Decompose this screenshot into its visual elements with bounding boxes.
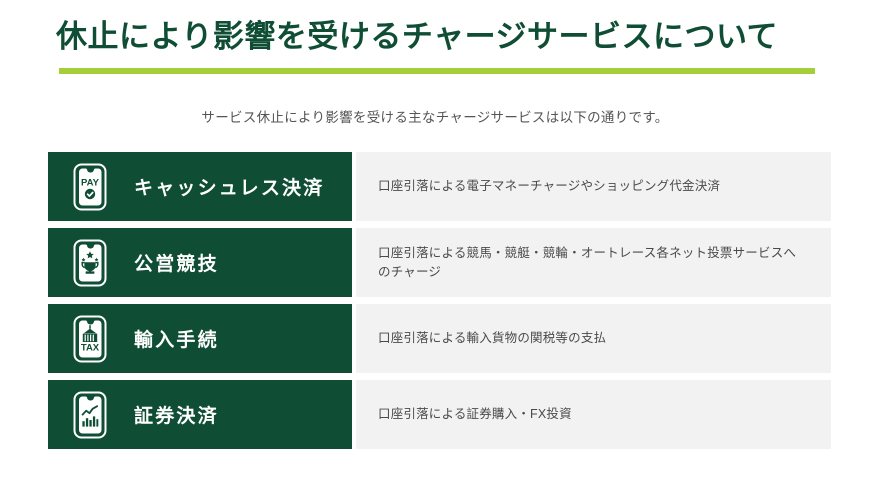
service-title: キャッシュレス決済 bbox=[134, 173, 324, 200]
svg-text:PAY: PAY bbox=[81, 177, 100, 188]
service-label-public-racing: 公営競技 bbox=[48, 228, 352, 297]
service-description: 口座引落による証券購入・FX投資 bbox=[378, 405, 572, 424]
list-item: PAY キャッシュレス決済 口座引落による電子マネーチャージやショッピング代金決… bbox=[48, 152, 831, 221]
phone-pay-icon: PAY bbox=[70, 162, 110, 212]
service-description-panel: 口座引落による電子マネーチャージやショッピング代金決済 bbox=[356, 152, 831, 221]
subtitle-text: サービス休止により影響を受ける主なチャージサービスは以下の通りです。 bbox=[0, 106, 870, 126]
title-underline bbox=[59, 68, 815, 74]
service-description-panel: 口座引落による競馬・競艇・競輪・オートレース各ネット投票サービスへのチャージ bbox=[356, 228, 831, 297]
service-title: 公営競技 bbox=[134, 249, 219, 276]
service-label-securities: 証券決済 bbox=[48, 380, 352, 449]
page-title: 休止により影響を受けるチャージサービスについて bbox=[56, 16, 818, 58]
service-label-cashless: PAY キャッシュレス決済 bbox=[48, 152, 352, 221]
list-item: TAX 輸入手続 口座引落による輸入貨物の関税等の支払 bbox=[48, 304, 831, 373]
list-item: 公営競技 口座引落による競馬・競艇・競輪・オートレース各ネット投票サービスへのチ… bbox=[48, 228, 831, 297]
service-description: 口座引落による輸入貨物の関税等の支払 bbox=[378, 329, 606, 348]
service-description: 口座引落による競馬・競艇・競輪・オートレース各ネット投票サービスへのチャージ bbox=[378, 244, 798, 282]
svg-text:TAX: TAX bbox=[81, 342, 100, 353]
phone-chart-icon bbox=[70, 390, 110, 440]
service-title: 証券決済 bbox=[134, 401, 219, 428]
service-title: 輸入手続 bbox=[134, 325, 219, 352]
service-description-panel: 口座引落による輸入貨物の関税等の支払 bbox=[356, 304, 831, 373]
service-description-panel: 口座引落による証券購入・FX投資 bbox=[356, 380, 831, 449]
phone-tax-cargo-icon: TAX bbox=[70, 314, 110, 364]
service-description: 口座引落による電子マネーチャージやショッピング代金決済 bbox=[378, 177, 720, 196]
service-list: PAY キャッシュレス決済 口座引落による電子マネーチャージやショッピング代金決… bbox=[48, 152, 831, 456]
service-label-import: TAX 輸入手続 bbox=[48, 304, 352, 373]
list-item: 証券決済 口座引落による証券購入・FX投資 bbox=[48, 380, 831, 449]
phone-trophy-icon bbox=[70, 238, 110, 288]
